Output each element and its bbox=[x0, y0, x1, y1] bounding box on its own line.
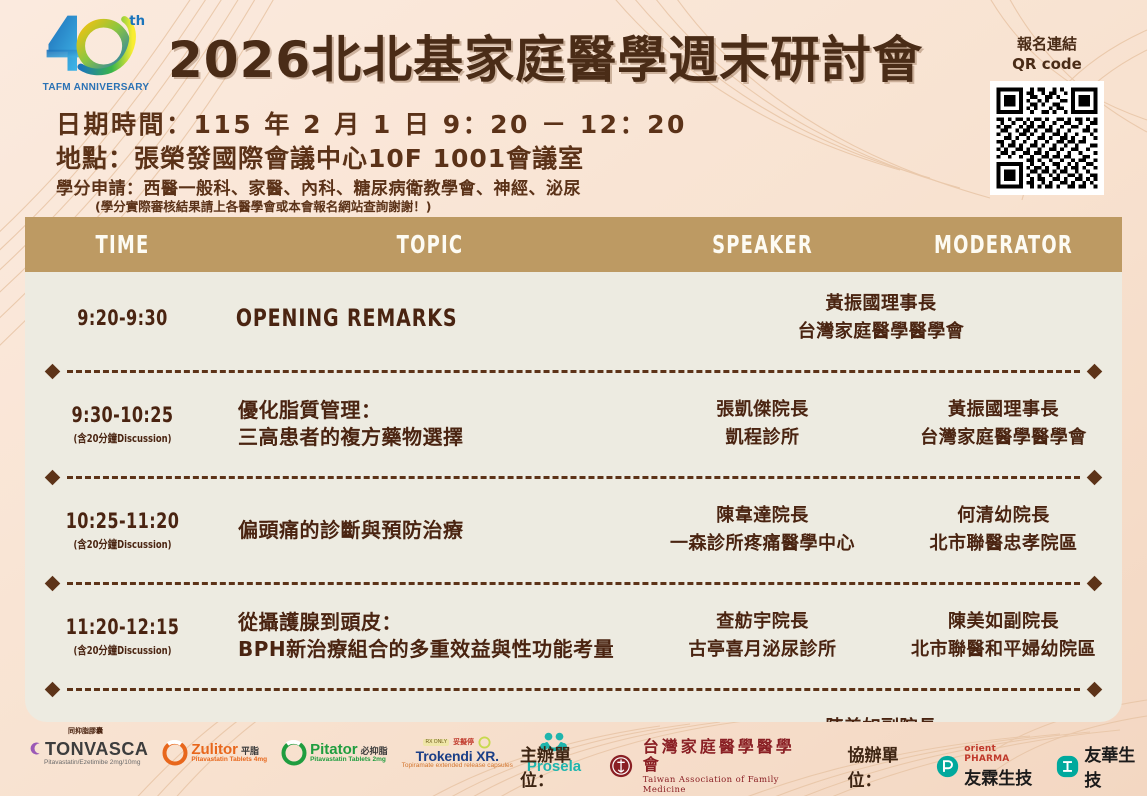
speaker-name: 張凱傑院長 bbox=[640, 396, 885, 424]
trokendi-rx-badge: RX ONLY bbox=[423, 739, 449, 746]
svg-text:th: th bbox=[129, 14, 145, 29]
divider-dash bbox=[67, 370, 1080, 373]
column-header-speaker: SPEAKER bbox=[665, 230, 861, 259]
row-divider bbox=[47, 576, 1100, 590]
cell-speaker: 查舫宇院長古亭喜月泌尿診所 bbox=[640, 608, 885, 664]
qr-code-image[interactable] bbox=[990, 81, 1104, 195]
tafm-40th-anniversary-logo: th TAFM ANNIVERSARY bbox=[36, 8, 156, 100]
agenda-table-header: TIME TOPIC SPEAKER MODERATOR bbox=[25, 217, 1122, 272]
topic-line: BPH新治療組合的多重效益與性功能考量 bbox=[238, 636, 640, 663]
moderator-name: 黃振國理事長 bbox=[640, 290, 1122, 318]
tafm-seal-icon bbox=[609, 753, 633, 779]
poster-footer: 同抑脂膠囊 TONVASCA Pitavastatin/Ezetimibe 2m… bbox=[0, 728, 1147, 796]
drug-logo-zulitor: Zulitor 平脂 Pitavastatin Tablets 4mg bbox=[162, 740, 267, 766]
cell-moderator: 陳美如副院長北市聯和平婦幼院區 bbox=[640, 714, 1122, 722]
drug-logo-trokendi-badge: 妥擬停 bbox=[453, 739, 474, 746]
orient-pharma-icon bbox=[936, 754, 959, 779]
cell-topic: 偏頭痛的診斷與預防治療 bbox=[220, 517, 640, 544]
topic-line: 偏頭痛的診斷與預防治療 bbox=[238, 517, 640, 544]
divider-diamond-left bbox=[45, 469, 61, 485]
credit-note: (學分實際審核結果請上各醫學會或本會報名網站查詢謝謝！) bbox=[95, 196, 431, 215]
host-name-en: Taiwan Association of Family Medicine bbox=[643, 775, 812, 795]
moderator-org: 台灣家庭醫學醫學會 bbox=[885, 424, 1122, 452]
cell-speaker: 陳韋達院長一森診所疼痛醫學中心 bbox=[640, 502, 885, 558]
organizer-row: 主辦單位： 台灣家庭醫學醫學會 Taiwan Association of Fa… bbox=[520, 738, 1147, 795]
divider-diamond-right bbox=[1087, 469, 1103, 485]
divider-diamond-left bbox=[45, 575, 61, 591]
time-discussion-note: (含20分鐘Discussion) bbox=[40, 642, 206, 658]
zulitor-mark-icon bbox=[162, 740, 188, 766]
column-header-time: TIME bbox=[45, 230, 201, 259]
event-location: 地點：張榮發國際會議中心10F 1001會議室 bbox=[56, 139, 584, 175]
divider-diamond-left bbox=[45, 681, 61, 697]
moderator-name: 陳美如副院長 bbox=[885, 608, 1122, 636]
cohost-orient-en: orient PHARMA bbox=[964, 744, 1038, 764]
column-header-moderator: MODERATOR bbox=[909, 230, 1099, 259]
drug-logo-trokendi-name: Trokendi XR. bbox=[402, 749, 513, 763]
topic-line: 三高患者的複方藥物選擇 bbox=[238, 424, 640, 451]
drug-logo-tonvasca-badge: 同抑脂膠囊 bbox=[68, 728, 103, 735]
cell-moderator: 陳美如副院長北市聯醫和平婦幼院區 bbox=[885, 608, 1122, 664]
agenda-row: 9:20-9:30OPENING REMARKS黃振國理事長台灣家庭醫學醫學會 bbox=[25, 272, 1122, 364]
cell-time: 9:20-9:30 bbox=[25, 306, 220, 330]
cell-moderator: 黃振國理事長台灣家庭醫學醫學會 bbox=[885, 396, 1122, 452]
moderator-org: 北市聯醫和平婦幼院區 bbox=[885, 636, 1122, 664]
time-discussion-note: (含20分鐘Discussion) bbox=[40, 430, 206, 446]
row-divider bbox=[47, 682, 1100, 696]
moderator-org: 北市聯醫忠孝院區 bbox=[885, 530, 1122, 558]
cohost-orient-zh: 友霖生技 bbox=[964, 769, 1032, 789]
drug-logo-pitator-sub: Pitavastatin Tablets 2mg bbox=[310, 757, 388, 764]
drug-logo-trokendi-sub: Topiramate extended release capsules bbox=[402, 763, 513, 770]
agenda-rows: 9:20-9:30OPENING REMARKS黃振國理事長台灣家庭醫學醫學會9… bbox=[25, 272, 1122, 722]
cell-moderator: 黃振國理事長台灣家庭醫學醫學會 bbox=[640, 290, 1122, 346]
divider-diamond-right bbox=[1087, 681, 1103, 697]
agenda-row: 10:25-11:20(含20分鐘Discussion)偏頭痛的診斷與預防治療陳… bbox=[25, 484, 1122, 576]
row-divider bbox=[47, 364, 1100, 378]
time-range: 9:30-10:25 bbox=[40, 403, 206, 427]
drug-logo-tonvasca: 同抑脂膠囊 TONVASCA Pitavastatin/Ezetimibe 2m… bbox=[26, 740, 148, 767]
pitator-mark-icon bbox=[281, 740, 307, 766]
speaker-org: 凱程診所 bbox=[640, 424, 885, 452]
topic-line: OPENING REMARKS bbox=[236, 302, 590, 334]
agenda-row: 12:15-12:20DISCUSSION AND CLOSING陳美如副院長北… bbox=[25, 696, 1122, 722]
speaker-org: 一森診所疼痛醫學中心 bbox=[640, 530, 885, 558]
event-datetime: 日期時間：115 年 2 月 1 日 9：20 － 12：20 bbox=[56, 105, 687, 141]
poster-header: th TAFM ANNIVERSARY 2026北北基家庭醫學週末研討會 日期時… bbox=[0, 0, 1147, 212]
drug-logo-zulitor-badge: 平脂 bbox=[241, 747, 259, 756]
topic-line: 優化脂質管理： bbox=[238, 397, 640, 424]
agenda-table: TIME TOPIC SPEAKER MODERATOR 9:20-9:30OP… bbox=[25, 217, 1122, 722]
time-discussion-note: (含20分鐘Discussion) bbox=[40, 536, 206, 552]
agenda-row: 9:30-10:25(含20分鐘Discussion)優化脂質管理：三高患者的複… bbox=[25, 378, 1122, 470]
drug-logo-tonvasca-sub: Pitavastatin/Ezetimibe 2mg/10mg bbox=[44, 760, 148, 767]
drug-logo-pitator-name: Pitator bbox=[310, 742, 358, 757]
page-title: 2026北北基家庭醫學週末研討會 bbox=[168, 20, 923, 92]
cohost-yuhan-zh: 友華生技 bbox=[1084, 741, 1147, 791]
sponsor-drug-logos: 同抑脂膠囊 TONVASCA Pitavastatin/Ezetimibe 2m… bbox=[26, 732, 581, 774]
host-label: 主辦單位： bbox=[520, 741, 599, 791]
divider-dash bbox=[67, 582, 1080, 585]
divider-diamond-right bbox=[1087, 575, 1103, 591]
divider-dash bbox=[67, 476, 1080, 479]
yuhan-biotech-icon bbox=[1056, 754, 1079, 779]
qr-label-line2: QR code bbox=[987, 54, 1107, 74]
cell-time: 11:20-12:15(含20分鐘Discussion) bbox=[25, 615, 220, 658]
cell-topic: OPENING REMARKS bbox=[220, 302, 590, 334]
column-header-topic: TOPIC bbox=[262, 230, 598, 259]
cell-time: 9:30-10:25(含20分鐘Discussion) bbox=[25, 403, 220, 446]
cell-speaker: 張凱傑院長凱程診所 bbox=[640, 396, 885, 452]
registration-qr-block[interactable]: 報名連結 QR code bbox=[987, 34, 1107, 200]
agenda-row: 11:20-12:15(含20分鐘Discussion)從攝護腺到頭皮：BPH新… bbox=[25, 590, 1122, 682]
divider-diamond-left bbox=[45, 363, 61, 379]
cohost-orient-pharma: orient PHARMA 友霖生技 bbox=[936, 744, 1038, 789]
cell-moderator: 何清幼院長北市聯醫忠孝院區 bbox=[885, 502, 1122, 558]
moderator-name: 黃振國理事長 bbox=[885, 396, 1122, 424]
anniversary-tagline: TAFM ANNIVERSARY bbox=[36, 82, 156, 93]
time-range: 10:25-11:20 bbox=[40, 509, 206, 533]
moderator-org: 台灣家庭醫學醫學會 bbox=[640, 318, 1122, 346]
drug-logo-pitator: Pitator 必抑脂 Pitavastatin Tablets 2mg bbox=[281, 740, 388, 766]
cohost-yuhan: 友華生技 bbox=[1056, 741, 1147, 791]
host-name: 台灣家庭醫學醫學會 bbox=[643, 738, 812, 775]
drug-logo-pitator-badge: 必抑脂 bbox=[361, 747, 388, 756]
speaker-name: 陳韋達院長 bbox=[640, 502, 885, 530]
moderator-name: 何清幼院長 bbox=[885, 502, 1122, 530]
drug-logo-zulitor-sub: Pitavastatin Tablets 4mg bbox=[191, 757, 267, 764]
cell-topic: 從攝護腺到頭皮：BPH新治療組合的多重效益與性功能考量 bbox=[220, 609, 640, 663]
cell-topic: 優化脂質管理：三高患者的複方藥物選擇 bbox=[220, 397, 640, 451]
cell-time: 10:25-11:20(含20分鐘Discussion) bbox=[25, 509, 220, 552]
speaker-name: 查舫宇院長 bbox=[640, 608, 885, 636]
speaker-org: 古亭喜月泌尿診所 bbox=[640, 636, 885, 664]
tonvasca-mark-icon bbox=[26, 740, 43, 757]
divider-diamond-right bbox=[1087, 363, 1103, 379]
drug-logo-zulitor-name: Zulitor bbox=[191, 742, 238, 757]
row-divider bbox=[47, 470, 1100, 484]
moderator-name: 陳美如副院長 bbox=[640, 714, 1122, 722]
topic-line: 從攝護腺到頭皮： bbox=[238, 609, 640, 636]
drug-logo-trokendi: RX ONLY 妥擬停 Trokendi XR. Topiramate exte… bbox=[402, 736, 513, 770]
anniversary-mark-icon: th bbox=[36, 8, 156, 84]
drug-logo-tonvasca-name: TONVASCA bbox=[45, 740, 148, 758]
time-range: 9:20-9:30 bbox=[40, 306, 206, 330]
divider-dash bbox=[67, 688, 1080, 691]
qr-label-line1: 報名連結 bbox=[987, 34, 1107, 54]
time-range: 11:20-12:15 bbox=[40, 615, 206, 639]
cohost-label: 協辦單位： bbox=[848, 741, 927, 791]
